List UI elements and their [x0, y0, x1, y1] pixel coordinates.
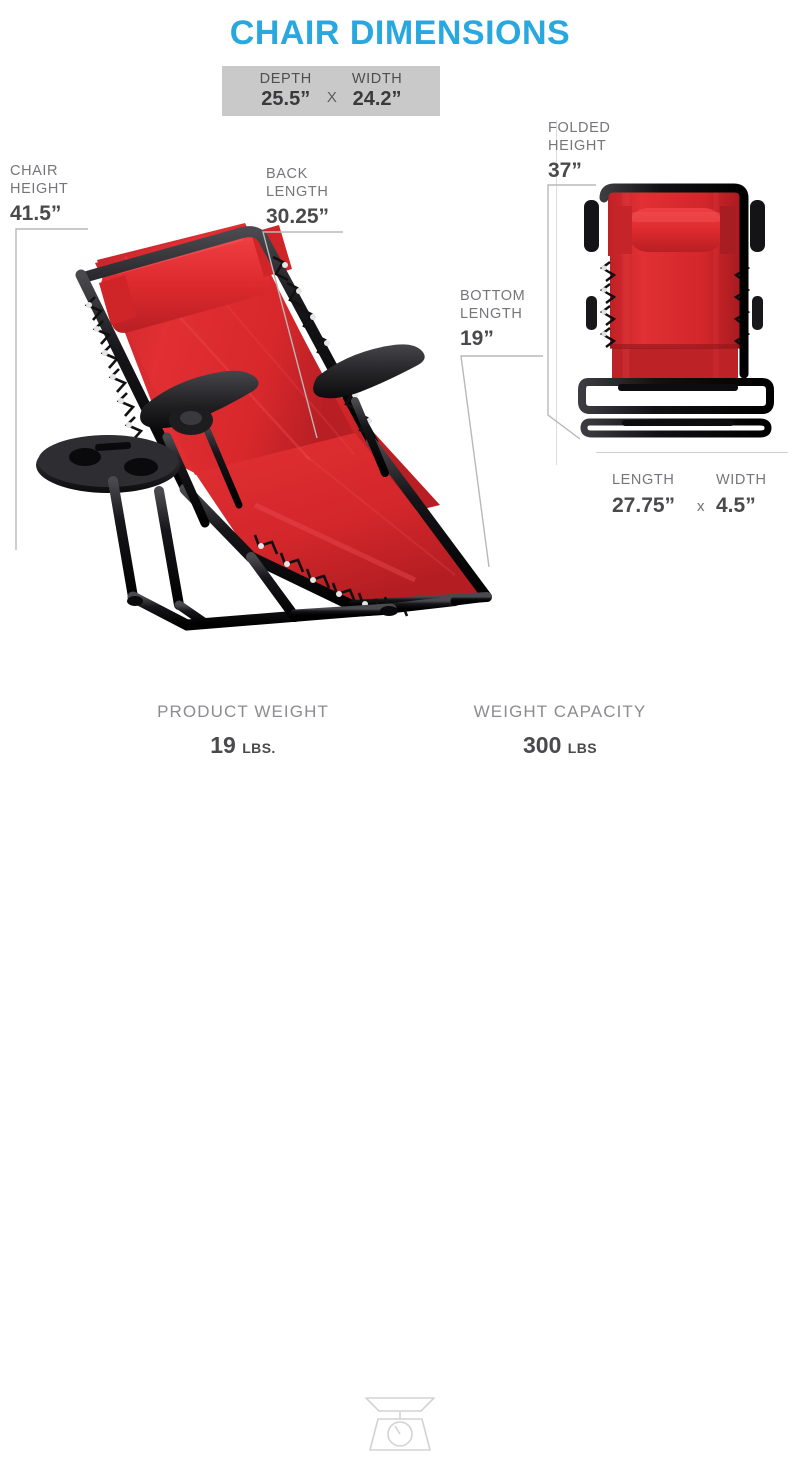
folded-width-label: WIDTH 4.5” [716, 472, 767, 518]
depth-value: 25.5” [261, 88, 310, 111]
chair-height-bracket [10, 227, 90, 552]
chair-height-caption-line1: CHAIR [10, 163, 68, 181]
depth-width-badge: DEPTH 25.5” X WIDTH 24.2” [222, 66, 440, 116]
weight-capacity-value-row: 300 LBS [420, 732, 700, 759]
width-block: WIDTH 24.2” [346, 71, 409, 111]
weight-capacity-label: WEIGHT CAPACITY [420, 702, 700, 722]
product-weight-value-row: 19 LBS. [108, 732, 378, 759]
product-weight-block: PRODUCT WEIGHT 19 LBS. [108, 702, 378, 759]
folded-width-caption: WIDTH [716, 472, 767, 490]
bottom-length-value: 19” [460, 326, 525, 352]
folded-height-caption-line2: HEIGHT [548, 138, 610, 156]
bottom-length-label: BOTTOM LENGTH 19” [460, 288, 525, 352]
back-length-bracket [255, 230, 345, 440]
folded-footprint-rule [596, 452, 788, 453]
chair-height-label: CHAIR HEIGHT 41.5” [10, 163, 68, 227]
width-label: WIDTH [352, 71, 403, 88]
product-weight-unit: LBS. [242, 740, 276, 756]
chair-height-caption-line2: HEIGHT [10, 181, 68, 199]
bottom-length-caption-line1: BOTTOM [460, 288, 525, 306]
product-weight-label: PRODUCT WEIGHT [108, 702, 378, 722]
back-length-caption-line1: BACK [266, 166, 329, 184]
weight-capacity-value: 300 [523, 732, 561, 758]
folded-length-value: 27.75” [612, 493, 675, 519]
page-title: CHAIR DIMENSIONS [0, 14, 800, 53]
folded-footprint-separator: x [697, 498, 705, 516]
badge-separator: X [318, 76, 346, 106]
back-length-caption-line2: LENGTH [266, 184, 329, 202]
chair-height-value: 41.5” [10, 201, 68, 227]
footer-specs: PRODUCT WEIGHT 19 LBS. WEIGHT CAPACITY 3 [0, 690, 800, 780]
weight-capacity-unit: LBS [568, 740, 597, 756]
back-length-value: 30.25” [266, 204, 329, 230]
folded-length-label: LENGTH 27.75” [612, 472, 675, 518]
folded-height-label: FOLDED HEIGHT 37” [548, 120, 610, 184]
folded-width-value: 4.5” [716, 493, 767, 519]
folded-height-caption-line1: FOLDED [548, 120, 610, 138]
bottom-length-bracket [455, 354, 545, 569]
folded-length-caption: LENGTH [612, 472, 675, 490]
bottom-length-caption-line2: LENGTH [460, 306, 525, 324]
folded-height-value: 37” [548, 158, 610, 184]
folded-height-bracket [540, 183, 610, 443]
width-value: 24.2” [353, 88, 402, 111]
product-weight-value: 19 [210, 732, 236, 758]
scale-icon [358, 1388, 442, 1456]
infographic-canvas: CHAIR DIMENSIONS DEPTH 25.5” X WIDTH 24.… [0, 0, 800, 800]
weight-capacity-block: WEIGHT CAPACITY 300 LBS [420, 702, 700, 759]
back-length-label: BACK LENGTH 30.25” [266, 166, 329, 230]
depth-block: DEPTH 25.5” [254, 71, 318, 111]
depth-label: DEPTH [260, 71, 312, 88]
